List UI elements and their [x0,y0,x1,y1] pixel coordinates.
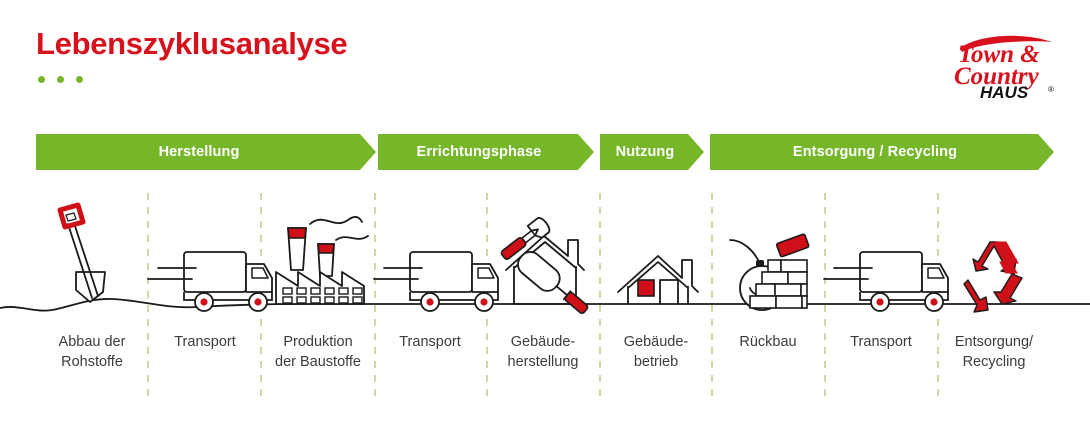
stage-labels: Abbau der Rohstoffe Transport Produktion… [0,332,1090,392]
stage-label-rueckbau: Rückbau [708,332,828,352]
stage-label-gebaeudeherstellung: Gebäude- herstellung [483,332,603,372]
accent-dot [57,76,64,83]
stage-label-entsorgung-recycling: Entsorgung/ Recycling [934,332,1054,372]
factory-icon [276,217,368,304]
stage-label-abbau-der-rohstoffe: Abbau der Rohstoffe [32,332,152,372]
recycling-icon [964,242,1022,312]
stage-label-transport-1: Transport [145,332,265,352]
svg-text:HAUS: HAUS [980,83,1029,102]
stage-label-gebaeudebetrieb: Gebäude- betrieb [596,332,716,372]
phase-label: Herstellung [159,144,240,160]
accent-dots [38,76,83,83]
phase-bar-entsorgung-recycling[interactable]: Entsorgung / Recycling [710,134,1054,170]
house-icon [618,256,698,304]
page-title: Lebenszyklusanalyse [36,28,347,59]
phase-label: Nutzung [616,144,675,160]
phase-bar-herstellung[interactable]: Herstellung [36,134,376,170]
phase-label: Entsorgung / Recycling [793,144,957,160]
stage-label-transport-2: Transport [370,332,490,352]
truck-icon [148,252,272,311]
wrecking-ball-icon [730,234,809,310]
phase-band: Herstellung Errichtungsphase Nutzung Ent… [0,134,1090,170]
phase-bar-nutzung[interactable]: Nutzung [600,134,704,170]
accent-dot [38,76,45,83]
phase-label: Errichtungsphase [417,144,542,160]
phase-bar-errichtungsphase[interactable]: Errichtungsphase [378,134,594,170]
stage-label-produktion-der-baustoffe: Produktion der Baustoffe [256,332,380,372]
lifecycle-infographic: Lebenszyklusanalyse Town & Country HAUS … [0,0,1090,441]
truck-icon [824,252,948,311]
recycling-icon-arrows [995,242,1018,273]
svg-text:®: ® [1048,85,1054,94]
stage-label-transport-3: Transport [821,332,941,352]
accent-dot [76,76,83,83]
shovel-icon [60,205,105,302]
town-and-country-haus-logo: Town & Country HAUS ® [952,28,1062,102]
lifecycle-scene [0,180,1090,325]
truck-icon [374,252,498,311]
